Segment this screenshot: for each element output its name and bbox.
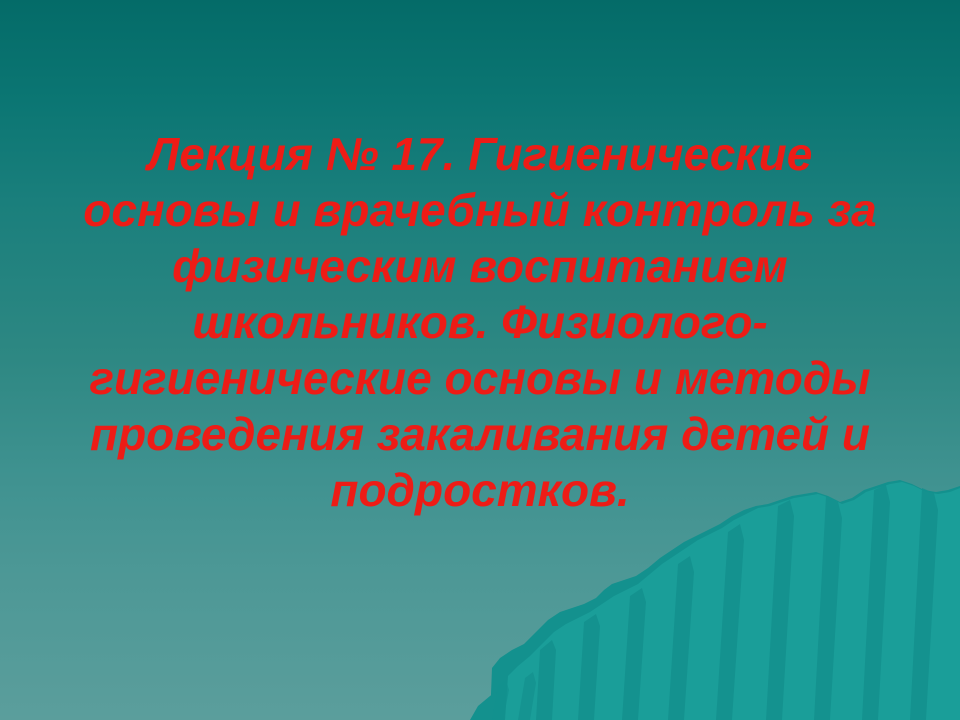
slide-title: Лекция № 17. Гигиенические основы и врач… — [0, 0, 960, 518]
title-line-2: основы и врачебный контроль за — [0, 182, 960, 238]
title-line-3: физическим воспитанием — [0, 238, 960, 294]
title-line-4: школьников. Физиолого- — [0, 294, 960, 350]
title-slide: Лекция № 17. Гигиенические основы и врач… — [0, 0, 960, 720]
title-line-1: Лекция № 17. Гигиенические — [0, 126, 960, 182]
title-line-6: проведения закаливания детей и — [0, 406, 960, 462]
title-line-7: подростков. — [0, 462, 960, 518]
mountain-foothill-striations — [492, 672, 536, 720]
mountain-foothill-dark-layer — [470, 662, 610, 720]
mountain-striations — [536, 485, 938, 720]
title-line-5: гигиенические основы и методы — [0, 350, 960, 406]
